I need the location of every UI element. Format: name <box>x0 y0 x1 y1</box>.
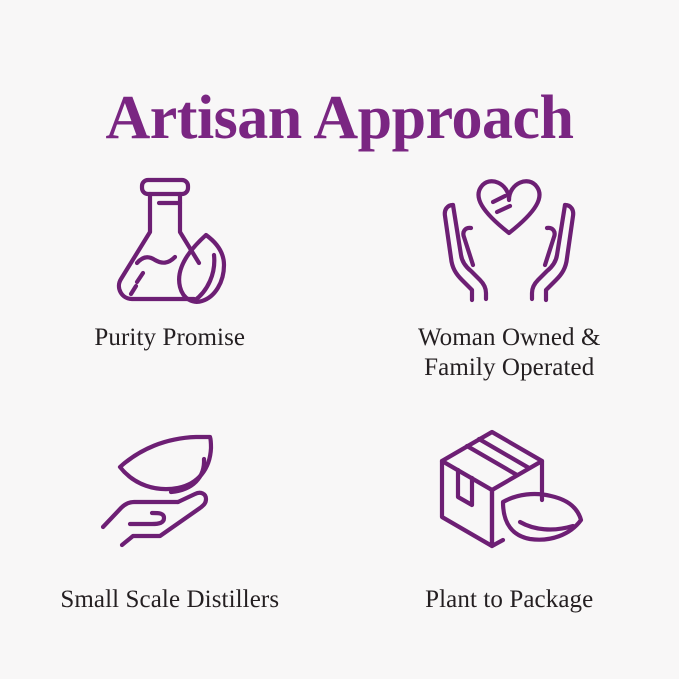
feature-grid: Purity Promise <box>0 150 679 650</box>
feature-item-purity-promise: Purity Promise <box>0 150 340 400</box>
feature-item-plant-to-package: Plant to Package <box>340 400 679 650</box>
feature-caption: Purity Promise <box>94 323 245 353</box>
feature-caption: Small Scale Distillers <box>60 585 279 615</box>
artisan-approach-panel: Artisan Approach <box>0 0 679 679</box>
hand-holding-leaf-icon <box>90 418 250 563</box>
box-with-leaf-icon <box>429 418 589 563</box>
feature-item-woman-owned: Woman Owned & Family Operated <box>340 150 679 400</box>
feature-caption: Plant to Package <box>425 585 593 615</box>
hands-holding-heart-icon <box>429 164 589 309</box>
feature-caption: Woman Owned & Family Operated <box>418 323 601 382</box>
feature-item-small-scale-distillers: Small Scale Distillers <box>0 400 340 650</box>
page-title: Artisan Approach <box>0 86 679 151</box>
flask-with-leaf-icon <box>90 164 250 309</box>
